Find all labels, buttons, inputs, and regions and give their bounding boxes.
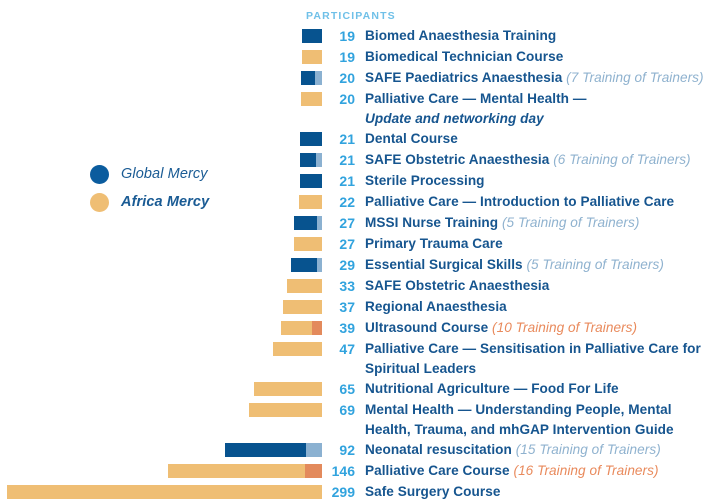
bar-blue: [291, 258, 322, 272]
bar-segment-participants: [281, 321, 312, 335]
training-of-trainers-note: (10 Training of Trainers): [492, 320, 637, 335]
course-label: Safe Surgery Course: [356, 482, 721, 502]
course-name: Dental Course: [365, 131, 458, 146]
bar-segment-participants: [283, 300, 322, 314]
participant-count: 29: [322, 255, 356, 275]
bar-segment-participants: [300, 174, 322, 188]
course-name: Biomed Anaesthesia Training: [365, 28, 556, 43]
bar-segment-training-of-trainers: [312, 321, 323, 335]
bar-segment-participants: [291, 258, 316, 272]
course-name: SAFE Obstetric Anaesthesia: [365, 278, 549, 293]
chart-row: 146Palliative Care Course (16 Training o…: [0, 461, 721, 482]
course-label: Essential Surgical Skills (5 Training of…: [356, 255, 721, 275]
course-label: Biomedical Technician Course: [356, 47, 721, 67]
course-name-continuation: Health, Trauma, and mhGAP Intervention G…: [365, 420, 721, 440]
participant-count: 92: [322, 440, 356, 460]
chart-row: 19Biomed Anaesthesia Training: [0, 26, 721, 47]
bar-cell: [0, 379, 322, 400]
bar-segment-participants: [294, 237, 322, 251]
bar-segment-participants: [301, 92, 322, 106]
bar-cell: [0, 150, 322, 171]
bar-orange: [301, 92, 322, 106]
training-of-trainers-note: (5 Training of Trainers): [502, 215, 639, 230]
bar-cell: [0, 461, 322, 482]
course-name: Sterile Processing: [365, 173, 485, 188]
course-name: Essential Surgical Skills: [365, 257, 523, 272]
participant-count: 19: [322, 26, 356, 46]
participant-count: 21: [322, 129, 356, 149]
participant-count: 22: [322, 192, 356, 212]
bar-segment-participants: [300, 153, 316, 167]
bar-cell: [0, 276, 322, 297]
bar-cell: [0, 318, 322, 339]
bar-segment-participants: [7, 485, 322, 499]
course-label: SAFE Paediatrics Anaesthesia (7 Training…: [356, 68, 721, 88]
bar-cell: [0, 482, 322, 503]
bar-segment-participants: [299, 195, 322, 209]
chart-row: 29Essential Surgical Skills (5 Training …: [0, 255, 721, 276]
bar-cell: [0, 440, 322, 461]
chart-row: 27MSSI Nurse Training (5 Training of Tra…: [0, 213, 721, 234]
training-of-trainers-note: (7 Training of Trainers): [566, 70, 703, 85]
bar-cell: [0, 129, 322, 150]
chart-row: 69Mental Health — Understanding People, …: [0, 400, 721, 440]
bar-segment-training-of-trainers: [316, 153, 322, 167]
course-name: Biomedical Technician Course: [365, 49, 563, 64]
course-label: Sterile Processing: [356, 171, 721, 191]
bar-segment-participants: [225, 443, 306, 457]
course-label: Palliative Care Course (16 Training of T…: [356, 461, 721, 481]
course-label: Mental Health — Understanding People, Me…: [356, 400, 721, 440]
course-label: Primary Trauma Care: [356, 234, 721, 254]
participant-count: 47: [322, 339, 356, 359]
chart-row: 92Neonatal resuscitation (15 Training of…: [0, 440, 721, 461]
course-label: Dental Course: [356, 129, 721, 149]
bar-cell: [0, 192, 322, 213]
course-name: Palliative Care — Mental Health —: [365, 91, 587, 106]
course-label: Neonatal resuscitation (15 Training of T…: [356, 440, 721, 460]
bar-segment-participants: [301, 71, 315, 85]
course-name: SAFE Paediatrics Anaesthesia: [365, 70, 562, 85]
bar-blue: [302, 29, 322, 43]
training-of-trainers-note: (5 Training of Trainers): [526, 257, 663, 272]
course-name: Regional Anaesthesia: [365, 299, 507, 314]
course-name: SAFE Obstetric Anaesthesia: [365, 152, 549, 167]
participant-count: 39: [322, 318, 356, 338]
course-name: MSSI Nurse Training: [365, 215, 498, 230]
course-label: SAFE Obstetric Anaesthesia (6 Training o…: [356, 150, 721, 170]
chart-row: 299Safe Surgery Course: [0, 482, 721, 503]
bar-segment-participants: [254, 382, 323, 396]
chart-row: 39Ultrasound Course (10 Training of Trai…: [0, 318, 721, 339]
bar-cell: [0, 213, 322, 234]
bar-segment-participants: [287, 279, 322, 293]
participant-count: 65: [322, 379, 356, 399]
bar-blue: [300, 132, 322, 146]
bar-segment-training-of-trainers: [317, 258, 322, 272]
participants-column-header: PARTICIPANTS: [306, 10, 396, 22]
bar-orange: [294, 237, 322, 251]
participant-count: 299: [322, 482, 356, 502]
bar-cell: [0, 255, 322, 276]
course-name: Safe Surgery Course: [365, 484, 500, 499]
bar-orange: [283, 300, 322, 314]
bar-blue: [300, 174, 322, 188]
bar-segment-training-of-trainers: [315, 71, 322, 85]
bar-blue: [294, 216, 322, 230]
course-label: Palliative Care — Sensitisation in Palli…: [356, 339, 721, 379]
bar-cell: [0, 339, 322, 360]
bar-cell: [0, 47, 322, 68]
bar-cell: [0, 234, 322, 255]
bar-segment-participants: [273, 342, 323, 356]
participants-bar-chart: Global Mercy Africa Mercy PARTICIPANTS 1…: [0, 0, 721, 476]
bar-blue: [225, 443, 322, 457]
bar-segment-training-of-trainers: [317, 216, 322, 230]
chart-row: 47Palliative Care — Sensitisation in Pal…: [0, 339, 721, 379]
course-name: Ultrasound Course: [365, 320, 488, 335]
bar-segment-participants: [302, 50, 322, 64]
course-name-continuation: Spiritual Leaders: [365, 359, 721, 379]
course-label: SAFE Obstetric Anaesthesia: [356, 276, 721, 296]
chart-row: 21SAFE Obstetric Anaesthesia (6 Training…: [0, 150, 721, 171]
course-label: MSSI Nurse Training (5 Training of Train…: [356, 213, 721, 233]
bar-orange: [254, 382, 323, 396]
bar-orange: [299, 195, 322, 209]
chart-row: 20Palliative Care — Mental Health —Updat…: [0, 89, 721, 129]
chart-row: 27Primary Trauma Care: [0, 234, 721, 255]
participant-count: 20: [322, 89, 356, 109]
participant-count: 20: [322, 68, 356, 88]
bar-orange: [273, 342, 323, 356]
bar-cell: [0, 400, 322, 421]
chart-row: 33SAFE Obstetric Anaesthesia: [0, 276, 721, 297]
bar-blue: [301, 71, 322, 85]
bar-orange: [281, 321, 322, 335]
chart-row: 65Nutritional Agriculture — Food For Lif…: [0, 379, 721, 400]
chart-row: 19Biomedical Technician Course: [0, 47, 721, 68]
chart-row: 37Regional Anaesthesia: [0, 297, 721, 318]
course-name: Palliative Care — Introduction to Pallia…: [365, 194, 674, 209]
bar-orange: [302, 50, 322, 64]
bar-orange: [7, 485, 322, 499]
course-label: Nutritional Agriculture — Food For Life: [356, 379, 721, 399]
course-name: Neonatal resuscitation: [365, 442, 512, 457]
bar-cell: [0, 68, 322, 89]
participant-count: 27: [322, 234, 356, 254]
bar-segment-training-of-trainers: [306, 443, 322, 457]
bar-blue: [300, 153, 322, 167]
bar-cell: [0, 297, 322, 318]
course-label: Ultrasound Course (10 Training of Traine…: [356, 318, 721, 338]
training-of-trainers-note: (15 Training of Trainers): [516, 442, 661, 457]
chart-rows: 19Biomed Anaesthesia Training19Biomedica…: [0, 26, 721, 503]
bar-cell: [0, 89, 322, 110]
bar-segment-participants: [294, 216, 317, 230]
bar-cell: [0, 171, 322, 192]
participant-count: 21: [322, 171, 356, 191]
bar-segment-participants: [300, 132, 322, 146]
course-name-continuation: Update and networking day: [365, 109, 721, 129]
bar-cell: [0, 26, 322, 47]
bar-orange: [287, 279, 322, 293]
participant-count: 69: [322, 400, 356, 420]
participant-count: 146: [322, 461, 356, 481]
course-name: Mental Health — Understanding People, Me…: [365, 402, 672, 417]
chart-row: 21Sterile Processing: [0, 171, 721, 192]
participant-count: 37: [322, 297, 356, 317]
course-label: Regional Anaesthesia: [356, 297, 721, 317]
course-name: Palliative Care — Sensitisation in Palli…: [365, 341, 701, 356]
training-of-trainers-note: (6 Training of Trainers): [553, 152, 690, 167]
course-label: Palliative Care — Mental Health —Update …: [356, 89, 721, 129]
bar-segment-participants: [249, 403, 322, 417]
chart-row: 20SAFE Paediatrics Anaesthesia (7 Traini…: [0, 68, 721, 89]
chart-row: 21Dental Course: [0, 129, 721, 150]
course-label: Biomed Anaesthesia Training: [356, 26, 721, 46]
course-label: Palliative Care — Introduction to Pallia…: [356, 192, 721, 212]
participant-count: 33: [322, 276, 356, 296]
bar-segment-participants: [302, 29, 322, 43]
participant-count: 27: [322, 213, 356, 233]
participant-count: 21: [322, 150, 356, 170]
participant-count: 19: [322, 47, 356, 67]
course-name: Nutritional Agriculture — Food For Life: [365, 381, 619, 396]
chart-row: 22Palliative Care — Introduction to Pall…: [0, 192, 721, 213]
course-name: Primary Trauma Care: [365, 236, 503, 251]
bar-orange: [249, 403, 322, 417]
